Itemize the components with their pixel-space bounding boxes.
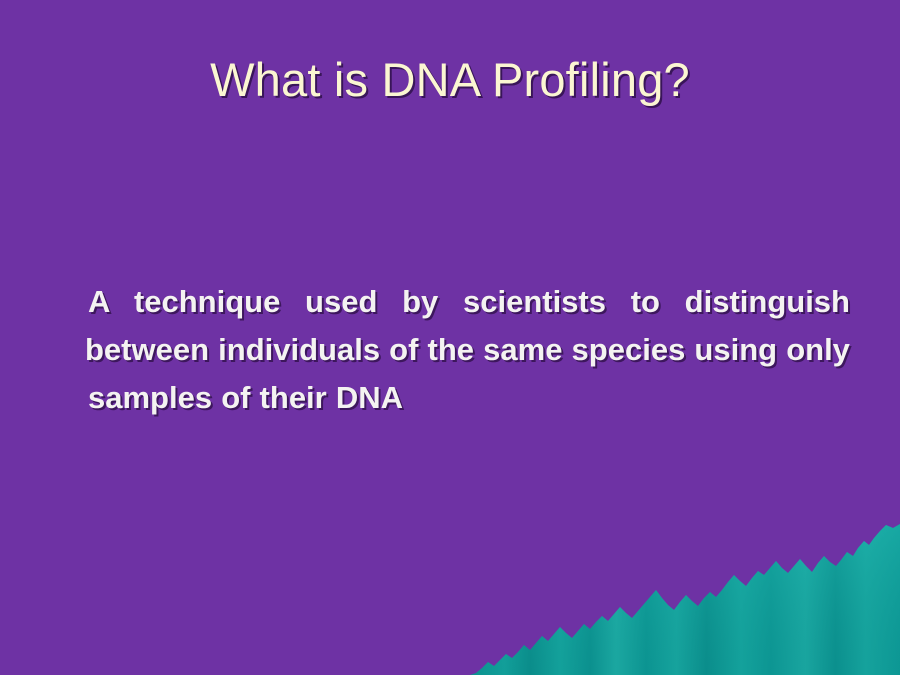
slide-body-block: A technique used by scientists to distin… (85, 278, 850, 470)
teal-ridge-path (470, 524, 900, 675)
presentation-slide: What is DNA Profiling? A technique used … (0, 0, 900, 675)
slide-body-text: A technique used by scientists to distin… (85, 278, 850, 470)
body-last-line: samples of their DNA (85, 374, 850, 422)
body-justified-text: A technique used by scientists to distin… (85, 284, 850, 367)
slide-title: What is DNA Profiling? (0, 52, 900, 107)
teal-ridge-shading (470, 524, 900, 675)
